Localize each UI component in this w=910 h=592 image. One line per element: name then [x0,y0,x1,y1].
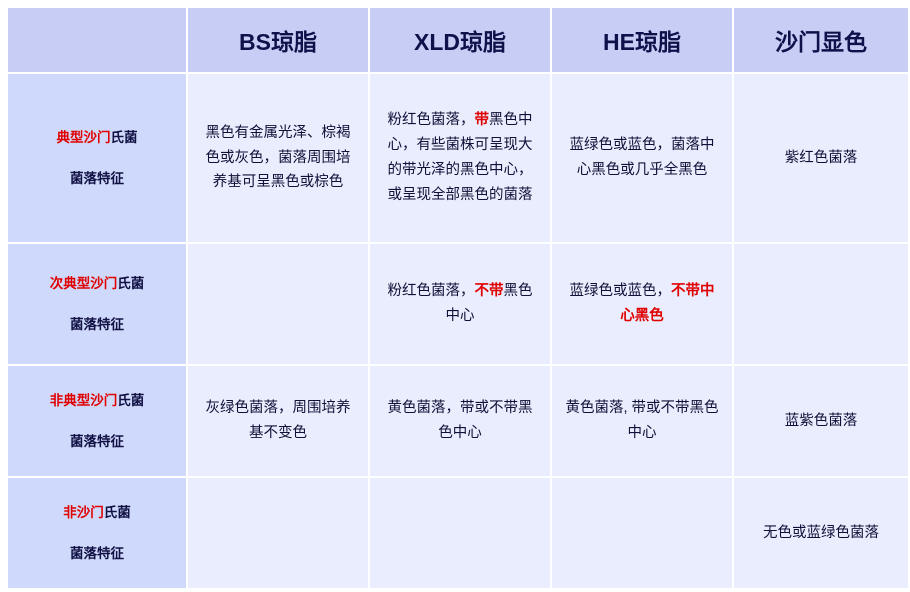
cell-he-typical: 蓝绿色或蓝色，菌落中心黑色或几乎全黑色 [552,74,732,242]
row-header-sub-label: 菌落特征 [12,540,182,567]
row-header-suffix-label: 氏菌 [117,393,144,408]
row-header-atypical: 非典型沙门氏菌 菌落特征 [8,366,186,476]
cell-xld-atypical: 黄色菌落，带或不带黑色中心 [370,366,550,476]
row-header-suffix-label: 氏菌 [104,505,131,520]
cell-he-subtypical: 蓝绿色或蓝色，不带中心黑色 [552,244,732,364]
cell-xld-nonsalmonella [370,478,550,588]
header-cell-bs-agar: BS琼脂 [188,8,368,72]
cell-bs-atypical: 灰绿色菌落，周围培养基不变色 [188,366,368,476]
row-header-sub-label: 菌落特征 [12,428,182,455]
table-container: BS琼脂 XLD琼脂 HE琼脂 沙门显色 典型沙门氏菌 菌落特征 黑色有金属光泽… [0,0,910,592]
cell-chrom-subtypical [734,244,908,364]
cell-he-nonsalmonella [552,478,732,588]
table-header-row: BS琼脂 XLD琼脂 HE琼脂 沙门显色 [8,8,908,72]
header-cell-blank [8,8,186,72]
row-header-typical: 典型沙门氏菌 菌落特征 [8,74,186,242]
colony-characteristics-table: BS琼脂 XLD琼脂 HE琼脂 沙门显色 典型沙门氏菌 菌落特征 黑色有金属光泽… [6,6,910,590]
row-header-sub-label: 菌落特征 [12,311,182,338]
cell-bs-typical: 黑色有金属光泽、棕褐色或灰色，菌落周围培养基可呈黑色或棕色 [188,74,368,242]
row-header-nonsalmonella: 非沙门氏菌 菌落特征 [8,478,186,588]
row-header-suffix-label: 氏菌 [117,276,144,291]
cell-bs-nonsalmonella [188,478,368,588]
table-row: 非典型沙门氏菌 菌落特征 灰绿色菌落，周围培养基不变色 黄色菌落，带或不带黑色中… [8,366,908,476]
row-header-subtypical: 次典型沙门氏菌 菌落特征 [8,244,186,364]
cell-chrom-nonsalmonella: 无色或蓝绿色菌落 [734,478,908,588]
cell-xld-typical: 粉红色菌落，带黑色中心，有些菌株可呈现大的带光泽的黑色中心，或呈现全部黑色的菌落 [370,74,550,242]
header-cell-chromogenic: 沙门显色 [734,8,908,72]
row-header-strain-label: 非典型沙门 [50,393,118,408]
table-row: 典型沙门氏菌 菌落特征 黑色有金属光泽、棕褐色或灰色，菌落周围培养基可呈黑色或棕… [8,74,908,242]
header-cell-he-agar: HE琼脂 [552,8,732,72]
table-row: 非沙门氏菌 菌落特征 无色或蓝绿色菌落 [8,478,908,588]
cell-he-atypical: 黄色菌落, 带或不带黑色中心 [552,366,732,476]
table-row: 次典型沙门氏菌 菌落特征 粉红色菌落，不带黑色中心 蓝绿色或蓝色，不带中心黑色 [8,244,908,364]
row-header-strain-label: 次典型沙门 [50,276,118,291]
row-header-sub-label: 菌落特征 [12,165,182,192]
row-header-strain-label: 非沙门 [63,505,104,520]
cell-chrom-atypical: 蓝紫色菌落 [734,366,908,476]
row-header-strain-label: 典型沙门 [57,130,111,145]
row-header-suffix-label: 氏菌 [111,130,138,145]
header-cell-xld-agar: XLD琼脂 [370,8,550,72]
cell-chrom-typical: 紫红色菌落 [734,74,908,242]
cell-xld-subtypical: 粉红色菌落，不带黑色中心 [370,244,550,364]
cell-bs-subtypical [188,244,368,364]
